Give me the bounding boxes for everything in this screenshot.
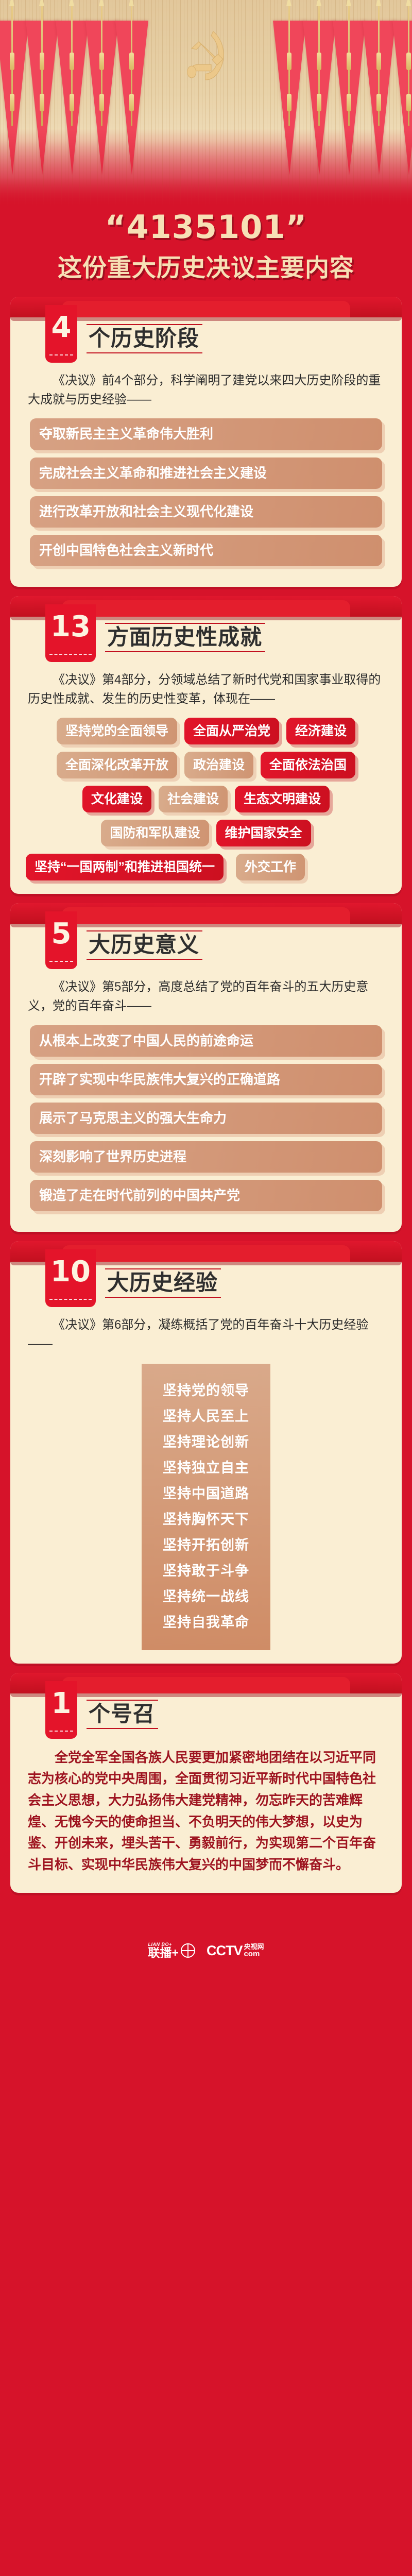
experience-item: 坚持中国道路 <box>142 1481 270 1507</box>
achievement-tag-list: 坚持党的全面领导 全面从严治党 经济建设 全面深化改革开放 政治建设 全面依法治… <box>26 718 386 880</box>
globe-icon <box>181 1943 195 1958</box>
flag-pole <box>318 2 320 126</box>
section-item-list: 夺取新民主主义革命伟大胜利 完成社会主义革命和推进社会主义建设 进行改革开放和社… <box>30 418 382 566</box>
section-title-wrap: 个历史阶段 <box>87 305 202 363</box>
list-item: 锻造了走在时代前列的中国共产党 <box>30 1180 382 1211</box>
spear-tip-icon <box>316 0 321 6</box>
pole-knob <box>99 53 104 70</box>
flag-pole <box>101 2 102 126</box>
section-title-wrap: 方面历史性成就 <box>105 604 265 662</box>
section-historical-experience: 10 大历史经验 《决议》第6部分，凝练概括了党的百年奋斗十大历史经验—— 坚持… <box>10 1241 402 1664</box>
section-title-wrap: 大历史意义 <box>87 911 202 969</box>
achievement-tag: 政治建设 <box>184 752 253 778</box>
experience-item: 坚持党的领导 <box>142 1378 270 1404</box>
spear-tip-icon <box>129 0 134 6</box>
list-item: 开辟了实现中华民族伟大复兴的正确道路 <box>30 1064 382 1095</box>
spear-tip-icon <box>69 0 74 6</box>
pole-knob <box>317 94 321 111</box>
achievement-tag: 全面深化改革开放 <box>57 752 177 778</box>
section-title: 大历史意义 <box>87 930 202 960</box>
pole-knob <box>40 53 44 70</box>
section-historic-significance: 5 大历史意义 《决议》第5部分，高度总结了党的百年奋斗的五大历史意义，党的百年… <box>10 903 402 1232</box>
pole-knob <box>406 94 411 111</box>
spear-tip-icon <box>346 0 351 6</box>
page-subtitle: 这份重大历史决议主要内容 <box>0 248 412 283</box>
section-call-to-action: 1 个号召 全党全军全国各族人民要更加紧密地团结在以习近平同志为核心的党中央周围… <box>10 1673 402 1893</box>
pole-knob <box>376 53 381 70</box>
section-number-badge: 1 <box>45 1681 77 1739</box>
pole-knob <box>99 94 104 111</box>
achievement-tag: 国防和军队建设 <box>101 820 209 846</box>
experience-item: 坚持胸怀天下 <box>142 1507 270 1533</box>
section-item-list: 从根本上改变了中国人民的前途命运 开辟了实现中华民族伟大复兴的正确道路 展示了马… <box>30 1025 382 1211</box>
achievement-tag: 社会建设 <box>159 786 228 812</box>
hammer-and-sickle-emblem-icon <box>183 28 232 98</box>
page-title: “4135101” <box>0 210 412 244</box>
pole-knob <box>347 53 351 70</box>
list-item: 从根本上改变了中国人民的前途命运 <box>30 1025 382 1057</box>
list-item: 开创中国特色社会主义新时代 <box>30 535 382 566</box>
section-header: 10 大历史经验 <box>10 1249 402 1307</box>
poster-root: “4135101” 这份重大历史决议主要内容 4 个历史阶段 《决议》前4个部分… <box>0 0 412 2576</box>
section-description: 《决议》第5部分，高度总结了党的百年奋斗的五大历史意义，党的百年奋斗—— <box>28 977 384 1015</box>
flag-pole <box>11 2 13 126</box>
experience-item: 坚持自我革命 <box>142 1610 270 1636</box>
spear-tip-icon <box>286 0 291 6</box>
hero-banner <box>0 0 412 206</box>
achievement-tag: 外交工作 <box>236 854 305 880</box>
list-item: 夺取新民主主义革命伟大胜利 <box>30 418 382 450</box>
pole-knob <box>70 94 74 111</box>
pole-knob <box>406 53 411 70</box>
pole-knob <box>347 94 351 111</box>
flag-pole <box>131 2 132 126</box>
achievement-tag: 维护国家安全 <box>216 820 311 846</box>
pole-knob <box>129 94 134 111</box>
pole-knob <box>376 94 381 111</box>
list-item: 完成社会主义革命和推进社会主义建设 <box>30 457 382 489</box>
achievement-tag: 全面依法治国 <box>261 752 355 778</box>
section-title: 大历史经验 <box>105 1268 221 1298</box>
spear-tip-icon <box>376 0 381 6</box>
call-to-action-text: 全党全军全国各族人民要更加紧密地团结在以习近平同志为核心的党中央周围，全面贯彻习… <box>28 1747 384 1876</box>
cctv-logo-com: com <box>244 1950 264 1958</box>
achievement-tag: 生态文明建设 <box>235 786 330 812</box>
section-description: 《决议》第6部分，凝练概括了党的百年奋斗十大历史经验—— <box>28 1315 384 1353</box>
section-number-badge: 13 <box>45 604 96 662</box>
pole-knob <box>287 94 291 111</box>
section-description: 《决议》第4部分，分领域总结了新时代党和国家事业取得的历史性成就、发生的历史性变… <box>28 670 384 708</box>
spear-tip-icon <box>39 0 44 6</box>
section-title-wrap: 个号召 <box>87 1681 158 1739</box>
experience-item: 坚持理论创新 <box>142 1430 270 1455</box>
experience-item: 坚持独立自主 <box>142 1455 270 1481</box>
poster-title-block: “4135101” 这份重大历史决议主要内容 <box>0 206 412 297</box>
list-item: 深刻影响了世界历史进程 <box>30 1141 382 1173</box>
cctv-logo: CCTV 央视网 com <box>207 1943 264 1959</box>
achievement-tag: 全面从严治党 <box>184 718 279 744</box>
section-number-badge: 10 <box>45 1249 96 1307</box>
experience-item: 坚持开拓创新 <box>142 1533 270 1558</box>
pole-knob <box>317 53 321 70</box>
pole-knob <box>10 94 14 111</box>
achievement-tag: 坚持“一国两制”和推进祖国统一 <box>26 854 224 880</box>
achievement-tag: 经济建设 <box>286 718 355 744</box>
pole-knob <box>70 53 74 70</box>
footer-logos: LIAN BO+ 联播+ CCTV 央视网 com <box>0 1902 412 1995</box>
achievement-tag: 坚持党的全面领导 <box>57 718 177 744</box>
section-number-badge: 4 <box>45 305 77 363</box>
pole-knob <box>287 53 291 70</box>
experience-item: 坚持统一战线 <box>142 1584 270 1610</box>
spear-tip-icon <box>406 0 411 6</box>
lianbo-logo-cn: 联播+ <box>148 1947 179 1959</box>
flag-pole <box>408 2 409 126</box>
section-title: 个号召 <box>87 1700 158 1729</box>
flag-pole <box>378 2 380 126</box>
pole-knob <box>10 53 14 70</box>
spear-tip-icon <box>99 0 104 6</box>
hero-gradient-overlay <box>0 129 412 206</box>
cctv-wordmark: CCTV <box>207 1943 243 1959</box>
section-header: 4 个历史阶段 <box>10 305 402 363</box>
section-historical-stages: 4 个历史阶段 《决议》前4个部分，科学阐明了建党以来四大历史阶段的重大成就与历… <box>10 297 402 587</box>
section-description: 《决议》前4个部分，科学阐明了建党以来四大历史阶段的重大成就与历史经验—— <box>28 371 384 409</box>
pole-knob <box>129 53 134 70</box>
list-item: 展示了马克思主义的强大生命力 <box>30 1103 382 1134</box>
section-number-badge: 5 <box>45 911 77 969</box>
section-header: 13 方面历史性成就 <box>10 604 402 662</box>
section-header: 1 个号召 <box>10 1681 402 1739</box>
lianbo-logo-text: LIAN BO+ 联播+ <box>148 1942 179 1959</box>
flag-pole <box>348 2 350 126</box>
list-item: 进行改革开放和社会主义现代化建设 <box>30 496 382 528</box>
flag-pole <box>288 2 290 126</box>
achievement-tag: 文化建设 <box>82 786 151 812</box>
lianbo-logo: LIAN BO+ 联播+ <box>148 1942 195 1959</box>
flag-pole <box>41 2 43 126</box>
section-title-wrap: 大历史经验 <box>105 1249 221 1307</box>
experience-item: 坚持人民至上 <box>142 1404 270 1430</box>
experience-item: 坚持敢于斗争 <box>142 1558 270 1584</box>
section-title: 方面历史性成就 <box>105 623 265 652</box>
flag-pole <box>71 2 73 126</box>
cctv-logo-side: 央视网 com <box>244 1943 264 1958</box>
section-historic-achievements: 13 方面历史性成就 《决议》第4部分，分领域总结了新时代党和国家事业取得的历史… <box>10 596 402 894</box>
section-header: 5 大历史意义 <box>10 911 402 969</box>
pole-knob <box>40 94 44 111</box>
spear-tip-icon <box>9 0 14 6</box>
section-title: 个历史阶段 <box>87 324 202 353</box>
experience-panel: 坚持党的领导 坚持人民至上 坚持理论创新 坚持独立自主 坚持中国道路 坚持胸怀天… <box>142 1364 270 1650</box>
